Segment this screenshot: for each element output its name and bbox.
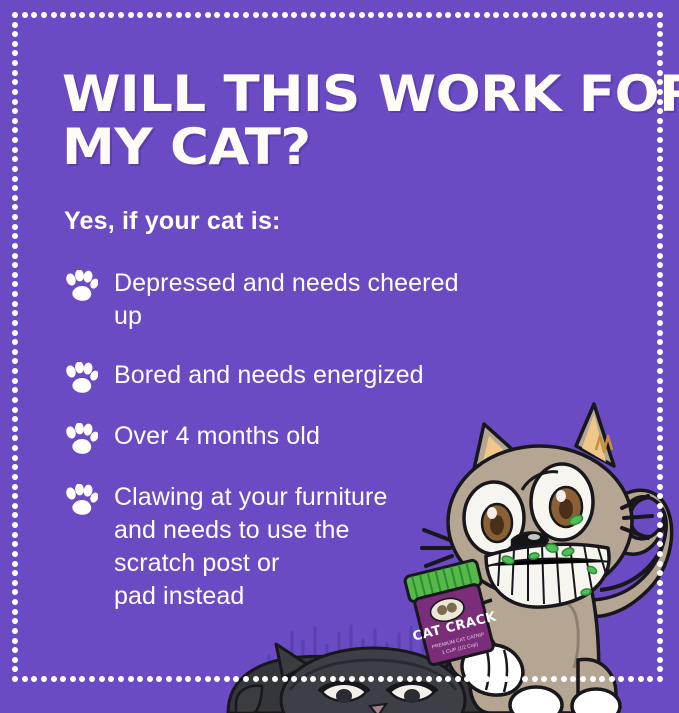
border-dot xyxy=(657,339,663,345)
border-dot xyxy=(253,12,259,18)
border-dot xyxy=(214,676,220,682)
list-item-line: scratch post or xyxy=(114,547,387,580)
border-dot xyxy=(628,676,634,682)
border-dot xyxy=(12,570,18,576)
border-dot xyxy=(233,12,239,18)
border-dot xyxy=(464,12,470,18)
border-dot xyxy=(657,561,663,567)
border-dot xyxy=(657,253,663,259)
border-dot xyxy=(310,12,316,18)
border-dot xyxy=(657,368,663,374)
border-dot xyxy=(108,12,114,18)
border-dot xyxy=(657,137,663,143)
border-dot xyxy=(22,12,28,18)
border-dot xyxy=(291,12,297,18)
border-dot xyxy=(12,330,18,336)
border-dot xyxy=(436,12,442,18)
border-dot xyxy=(522,676,528,682)
border-dot xyxy=(176,676,182,682)
grey-cat-right-eye xyxy=(531,464,593,540)
border-dot xyxy=(609,676,615,682)
grey-cat-bottom-paws xyxy=(510,687,620,713)
border-dot xyxy=(368,676,374,682)
border-dot xyxy=(79,12,85,18)
border-dot xyxy=(657,455,663,461)
border-dot xyxy=(12,281,18,287)
border-dot xyxy=(657,589,663,595)
border-dot xyxy=(12,522,18,528)
border-dot xyxy=(657,272,663,278)
border-dot xyxy=(31,12,37,18)
border-dot xyxy=(243,12,249,18)
border-dot xyxy=(12,320,18,326)
border-dot xyxy=(22,676,28,682)
border-dot xyxy=(628,12,634,18)
border-dot xyxy=(657,570,663,576)
border-dot xyxy=(657,493,663,499)
border-dot xyxy=(12,551,18,557)
page-title-line-2: MY CAT? xyxy=(62,121,656,174)
border-dot xyxy=(12,445,18,451)
grumpy-black-cat xyxy=(228,642,522,713)
border-dot xyxy=(445,12,451,18)
list-item-line: pad instead xyxy=(114,580,387,613)
border-dot xyxy=(493,676,499,682)
border-dot xyxy=(12,666,18,672)
border-dot xyxy=(474,676,480,682)
list-item-text: Clawing at your furniture and needs to u… xyxy=(114,481,387,613)
border-dot xyxy=(647,12,653,18)
border-dot xyxy=(12,378,18,384)
border-dot xyxy=(657,416,663,422)
border-dot xyxy=(657,599,663,605)
border-dot xyxy=(12,358,18,364)
border-dot xyxy=(99,12,105,18)
border-dot xyxy=(426,676,432,682)
border-dot xyxy=(12,127,18,133)
list-item-line: Depressed and needs cheered up xyxy=(114,267,484,333)
border-dot xyxy=(657,147,663,153)
page-title-line-1: WILL THIS WORK FOR xyxy=(62,68,656,121)
border-dot xyxy=(657,349,663,355)
border-dot xyxy=(638,676,644,682)
border-dot xyxy=(503,12,509,18)
border-dot xyxy=(657,618,663,624)
border-dot xyxy=(41,12,47,18)
border-dot xyxy=(657,551,663,557)
border-dot xyxy=(12,541,18,547)
border-dot xyxy=(185,12,191,18)
border-dot xyxy=(359,676,365,682)
border-dot xyxy=(301,676,307,682)
border-dot xyxy=(407,676,413,682)
border-dot xyxy=(657,445,663,451)
border-dot xyxy=(657,166,663,172)
border-dot xyxy=(166,676,172,682)
border-dot xyxy=(339,12,345,18)
paw-icon xyxy=(64,270,98,302)
border-dot xyxy=(349,12,355,18)
paw-icon xyxy=(64,423,98,455)
border-dot xyxy=(12,253,18,259)
border-dot xyxy=(657,127,663,133)
border-dot xyxy=(532,12,538,18)
border-dot xyxy=(657,204,663,210)
black-cat-left-eye xyxy=(320,683,368,704)
page-title: WILL THIS WORK FOR MY CAT? xyxy=(62,68,622,174)
border-dot xyxy=(12,599,18,605)
border-dot xyxy=(12,580,18,586)
border-dot xyxy=(618,676,624,682)
border-dot xyxy=(657,31,663,37)
border-dot xyxy=(455,12,461,18)
border-dot xyxy=(12,416,18,422)
border-dot xyxy=(12,31,18,37)
grey-cat-whiskers-right xyxy=(622,496,652,538)
border-dot xyxy=(657,50,663,56)
border-dot xyxy=(60,12,66,18)
border-dot xyxy=(580,12,586,18)
grey-cat-teeth-lines xyxy=(488,544,610,604)
black-cat-right-eye xyxy=(388,683,436,704)
border-dot xyxy=(657,580,663,586)
border-dot xyxy=(657,474,663,480)
border-dot xyxy=(12,339,18,345)
border-dot xyxy=(128,676,134,682)
border-dot xyxy=(310,676,316,682)
border-dot xyxy=(407,12,413,18)
border-dot xyxy=(41,676,47,682)
border-dot xyxy=(426,12,432,18)
border-dot xyxy=(12,156,18,162)
border-dot xyxy=(657,512,663,518)
border-dot xyxy=(436,676,442,682)
border-dot xyxy=(51,12,57,18)
border-dot xyxy=(176,12,182,18)
border-dot xyxy=(147,676,153,682)
border-dot xyxy=(12,426,18,432)
list-item-line: Clawing at your furniture xyxy=(114,481,387,514)
border-dot xyxy=(282,12,288,18)
border-dot xyxy=(599,12,605,18)
border-dot xyxy=(12,291,18,297)
border-dot xyxy=(657,233,663,239)
border-dot xyxy=(522,12,528,18)
list-item-text: Depressed and needs cheered up xyxy=(114,267,484,333)
border-dot xyxy=(657,647,663,653)
border-dot xyxy=(12,493,18,499)
border-dot xyxy=(12,628,18,634)
list-item-line: Over 4 months old xyxy=(114,420,320,453)
border-dot xyxy=(378,676,384,682)
border-dot xyxy=(12,214,18,220)
border-dot xyxy=(12,166,18,172)
list-item-line: Bored and needs energized xyxy=(114,359,424,392)
border-dot xyxy=(320,676,326,682)
border-dot xyxy=(12,407,18,413)
border-dot xyxy=(513,676,519,682)
border-dot xyxy=(205,676,211,682)
border-dot xyxy=(108,676,114,682)
border-dot xyxy=(51,676,57,682)
border-dot xyxy=(12,41,18,47)
list-item: Clawing at your furniture and needs to u… xyxy=(64,481,484,613)
border-dot xyxy=(570,676,576,682)
border-dot xyxy=(657,676,663,682)
border-dot xyxy=(89,12,95,18)
border-dot xyxy=(657,435,663,441)
border-dot xyxy=(12,204,18,210)
border-dot xyxy=(12,618,18,624)
border-dot xyxy=(541,676,547,682)
border-dot xyxy=(12,195,18,201)
border-dot xyxy=(12,224,18,230)
list-item-text: Over 4 months old xyxy=(114,420,320,453)
catnip-flecks xyxy=(501,513,598,596)
border-dot xyxy=(224,676,230,682)
border-dot xyxy=(156,12,162,18)
border-dot xyxy=(12,89,18,95)
border-dot xyxy=(657,609,663,615)
border-dot xyxy=(387,12,393,18)
border-dot xyxy=(195,676,201,682)
border-dot xyxy=(474,12,480,18)
border-dot xyxy=(657,407,663,413)
border-dot xyxy=(493,12,499,18)
paw-icon xyxy=(64,484,98,516)
border-dot xyxy=(12,561,18,567)
border-dot xyxy=(12,455,18,461)
border-dot xyxy=(445,676,451,682)
border-dot xyxy=(12,60,18,66)
border-dot xyxy=(214,12,220,18)
border-dot xyxy=(12,474,18,480)
border-dot xyxy=(79,676,85,682)
border-dot xyxy=(618,12,624,18)
border-dot xyxy=(657,224,663,230)
border-dot xyxy=(416,12,422,18)
border-dot xyxy=(12,70,18,76)
list-item: Bored and needs energized xyxy=(64,359,484,394)
border-dot xyxy=(657,195,663,201)
border-dot xyxy=(513,12,519,18)
border-dot xyxy=(657,22,663,28)
border-dot xyxy=(12,676,18,682)
border-dot xyxy=(657,532,663,538)
border-dot xyxy=(657,330,663,336)
border-dot xyxy=(657,397,663,403)
border-dot xyxy=(12,301,18,307)
border-dot xyxy=(118,12,124,18)
paw-icon xyxy=(64,362,98,394)
border-dot xyxy=(561,12,567,18)
border-dot xyxy=(657,387,663,393)
border-dot xyxy=(291,676,297,682)
border-dot xyxy=(551,12,557,18)
border-dot xyxy=(339,676,345,682)
border-dot xyxy=(320,12,326,18)
border-dot xyxy=(282,676,288,682)
poster: CAT CRACK PREMIUM CAT CATNIP 1 CUP (1/2 … xyxy=(0,0,679,713)
border-dot xyxy=(368,12,374,18)
border-dot xyxy=(262,676,268,682)
border-dot xyxy=(205,12,211,18)
border-dot xyxy=(233,676,239,682)
border-dot xyxy=(657,464,663,470)
border-dot xyxy=(70,676,76,682)
border-dot xyxy=(12,638,18,644)
border-dot xyxy=(657,628,663,634)
border-dot xyxy=(243,676,249,682)
border-dot xyxy=(12,176,18,182)
border-dot xyxy=(416,676,422,682)
border-dot xyxy=(541,12,547,18)
list-item-line: and needs to use the xyxy=(114,514,387,547)
border-dot xyxy=(12,397,18,403)
border-dot xyxy=(330,12,336,18)
border-dot xyxy=(224,12,230,18)
border-dot xyxy=(378,12,384,18)
border-dot xyxy=(397,676,403,682)
border-dot xyxy=(657,214,663,220)
border-dot xyxy=(12,484,18,490)
border-dot xyxy=(590,676,596,682)
border-dot xyxy=(31,676,37,682)
border-dot xyxy=(349,676,355,682)
border-dot xyxy=(657,541,663,547)
border-dot xyxy=(647,676,653,682)
border-dot xyxy=(12,368,18,374)
border-dot xyxy=(128,12,134,18)
border-dot xyxy=(166,12,172,18)
border-dot xyxy=(638,12,644,18)
border-dot xyxy=(657,301,663,307)
border-dot xyxy=(253,676,259,682)
border-dot xyxy=(70,12,76,18)
border-dot xyxy=(590,12,596,18)
border-dot xyxy=(12,22,18,28)
border-dot xyxy=(147,12,153,18)
border-dot xyxy=(12,50,18,56)
border-dot xyxy=(60,676,66,682)
border-dot xyxy=(12,233,18,239)
border-dot xyxy=(657,281,663,287)
border-dot xyxy=(570,12,576,18)
qualification-list: Depressed and needs cheered up Bored and… xyxy=(64,267,484,639)
border-dot xyxy=(359,12,365,18)
subheading: Yes, if your cat is: xyxy=(64,206,281,236)
border-dot xyxy=(195,12,201,18)
border-dot xyxy=(118,676,124,682)
border-dot xyxy=(657,522,663,528)
border-dot xyxy=(12,435,18,441)
border-dot xyxy=(185,676,191,682)
border-dot xyxy=(657,484,663,490)
border-dot xyxy=(12,464,18,470)
border-dot xyxy=(599,676,605,682)
border-dot xyxy=(12,310,18,316)
border-dot xyxy=(12,118,18,124)
border-dot xyxy=(503,676,509,682)
border-dot xyxy=(387,676,393,682)
border-dot xyxy=(657,378,663,384)
list-item: Depressed and needs cheered up xyxy=(64,267,484,333)
border-dot xyxy=(12,512,18,518)
border-dot xyxy=(12,108,18,114)
border-dot xyxy=(561,676,567,682)
border-dot xyxy=(137,12,143,18)
border-dot xyxy=(12,185,18,191)
grey-cat-left-paw xyxy=(462,644,523,695)
border-dot xyxy=(657,41,663,47)
border-dot xyxy=(99,676,105,682)
border-dot xyxy=(455,676,461,682)
border-dot xyxy=(657,291,663,297)
border-dot xyxy=(12,532,18,538)
border-dot xyxy=(657,426,663,432)
border-dot xyxy=(12,609,18,615)
border-dot xyxy=(12,349,18,355)
border-dot xyxy=(12,387,18,393)
border-dot xyxy=(12,243,18,249)
border-dot xyxy=(657,176,663,182)
border-dot xyxy=(484,12,490,18)
border-dot xyxy=(609,12,615,18)
border-dot xyxy=(89,676,95,682)
border-dot xyxy=(657,12,663,18)
border-dot xyxy=(12,657,18,663)
border-dot xyxy=(657,358,663,364)
border-dot xyxy=(12,272,18,278)
border-dot xyxy=(657,185,663,191)
border-dot xyxy=(657,262,663,268)
border-dot xyxy=(262,12,268,18)
border-dot xyxy=(397,12,403,18)
border-dot xyxy=(657,243,663,249)
border-dot xyxy=(12,647,18,653)
border-dot xyxy=(156,676,162,682)
border-dot xyxy=(657,657,663,663)
border-dot xyxy=(657,310,663,316)
border-dot xyxy=(657,320,663,326)
border-dot xyxy=(330,676,336,682)
border-dot xyxy=(272,676,278,682)
border-dot xyxy=(551,676,557,682)
border-dot xyxy=(12,137,18,143)
border-dot xyxy=(137,676,143,682)
border-dot xyxy=(657,666,663,672)
border-dot xyxy=(12,147,18,153)
border-dot xyxy=(532,676,538,682)
border-dot xyxy=(580,676,586,682)
border-dot xyxy=(12,503,18,509)
border-dot xyxy=(657,503,663,509)
border-dot xyxy=(657,638,663,644)
border-dot xyxy=(301,12,307,18)
border-dot xyxy=(657,156,663,162)
border-dot xyxy=(484,676,490,682)
border-dot xyxy=(464,676,470,682)
border-dot xyxy=(12,262,18,268)
list-item-text: Bored and needs energized xyxy=(114,359,424,392)
border-dot xyxy=(12,79,18,85)
border-dot xyxy=(12,12,18,18)
border-dot xyxy=(272,12,278,18)
svg-text:1 CUP (1/2 Cup): 1 CUP (1/2 Cup) xyxy=(441,641,479,656)
border-dot xyxy=(12,99,18,105)
border-dot xyxy=(12,589,18,595)
list-item: Over 4 months old xyxy=(64,420,484,455)
